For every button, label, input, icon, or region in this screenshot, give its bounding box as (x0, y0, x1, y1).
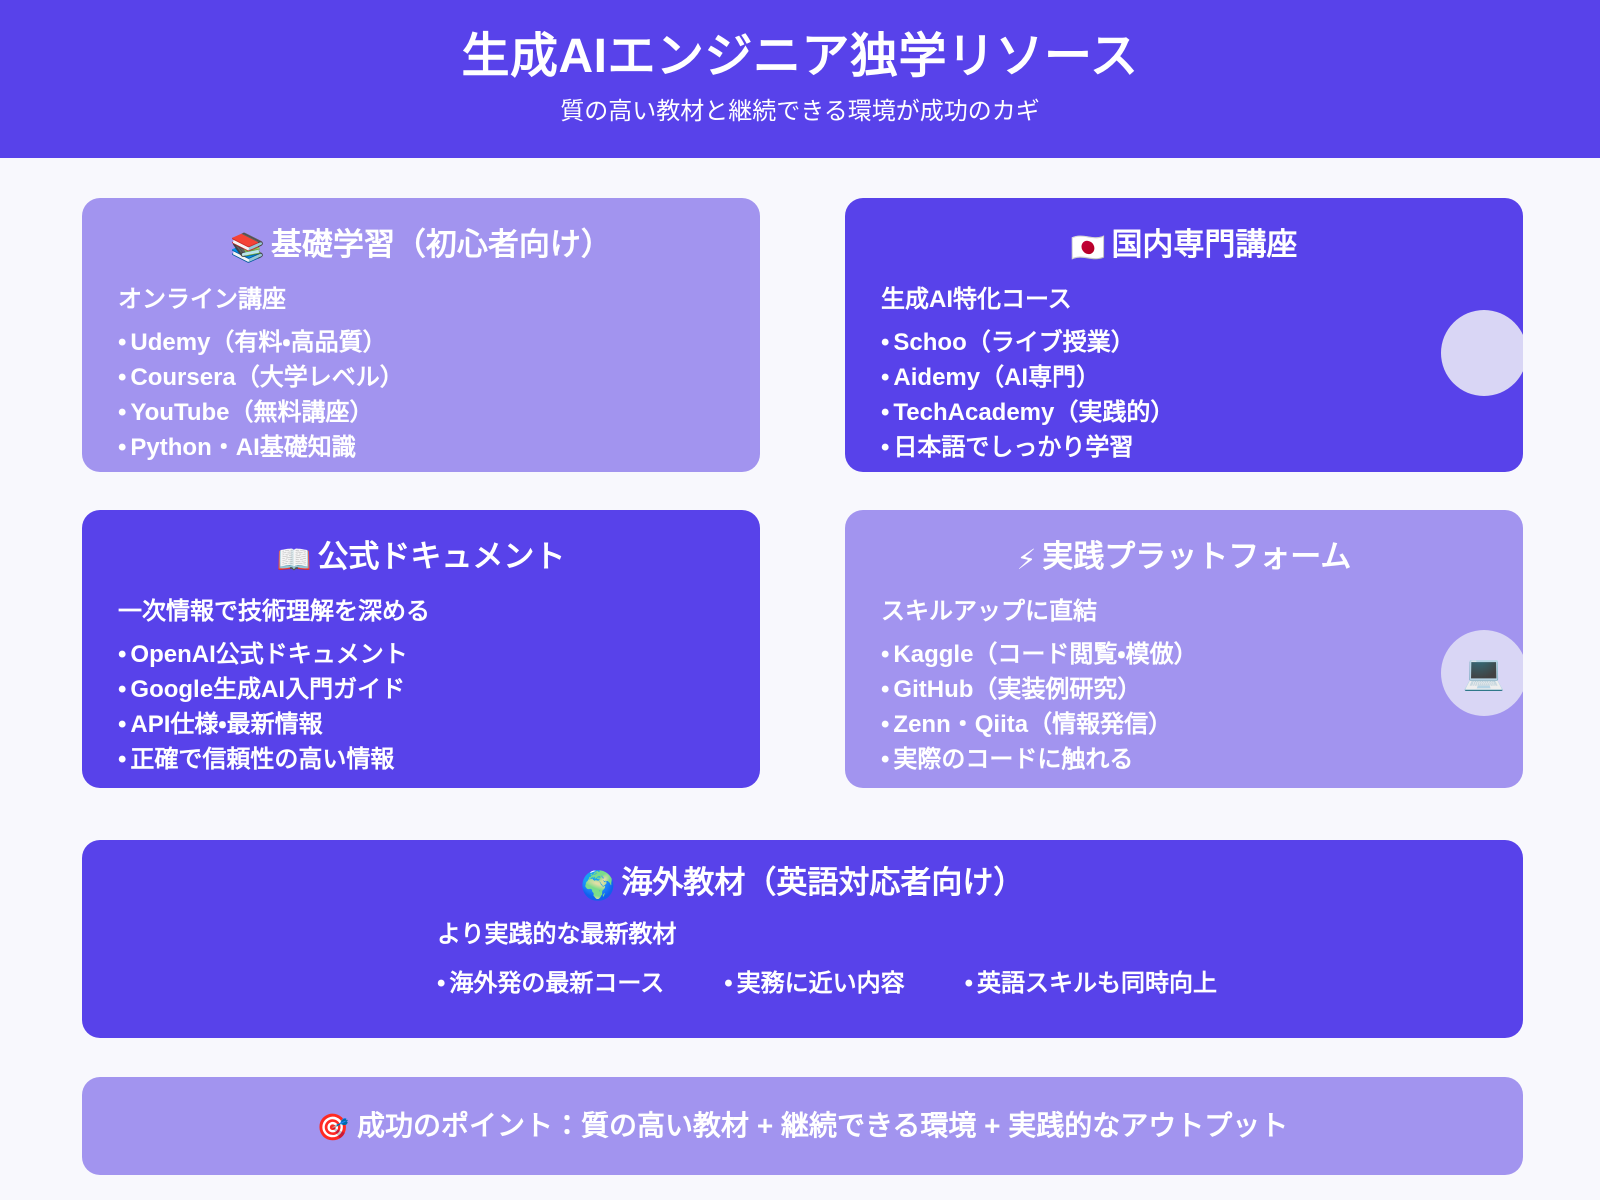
list-item: •YouTube（無料講座） (118, 395, 724, 430)
list-item-label: Aidemy（AI専門） (893, 364, 1100, 391)
list-item: •Google生成AI入門ガイド (118, 672, 724, 707)
card-domestic-courses[interactable]: 🇯🇵国内専門講座 生成AI特化コース •Schoo（ライブ授業） •Aidemy… (845, 198, 1523, 472)
card-title-text: 国内専門講座 (1111, 227, 1297, 262)
list-item-label: 海外発の最新コース (449, 970, 664, 997)
header-banner: 生成AIエンジニア独学リソース 質の高い教材と継続できる環境が成功のカギ (0, 0, 1600, 158)
list-item-label: GitHub（実装例研究） (893, 676, 1141, 703)
card-title-domestic-courses: 🇯🇵国内専門講座 (845, 226, 1523, 265)
list-item: •正確で信頼性の高い情報 (118, 742, 724, 777)
books-icon: 📚 (230, 232, 265, 263)
globe-icon: 🌍 (581, 870, 616, 901)
bullet-icon: • (437, 970, 445, 997)
list-item: •英語スキルも同時向上 (965, 963, 1217, 998)
bullet-icon: • (118, 746, 126, 773)
list-item-label: 実際のコードに触れる (893, 746, 1133, 773)
card-list-practice-platforms: •Kaggle（コード閲覧・模倣） •GitHub（実装例研究） •Zenn・Q… (881, 637, 1487, 777)
card-body-practice-platforms: スキルアップに直結 •Kaggle（コード閲覧・模倣） •GitHub（実装例研… (845, 597, 1523, 777)
list-item-label: YouTube（無料講座） (130, 399, 373, 426)
list-item-label: 日本語でしっかり学習 (893, 434, 1133, 461)
footer-key-point-banner[interactable]: 🎯成功のポイント：質の高い教材 + 継続できる環境 + 実践的なアウトプット (82, 1077, 1523, 1175)
japan-flag-icon: 🇯🇵 (1071, 232, 1106, 263)
bullet-icon: • (881, 711, 889, 738)
card-title-official-docs: 📖公式ドキュメント (82, 538, 760, 577)
card-overseas-materials[interactable]: 🌍海外教材（英語対応者向け） より実践的な最新教材 •海外発の最新コース •実務… (82, 840, 1523, 1038)
list-item-label: 正確で信頼性の高い情報 (130, 746, 394, 773)
card-list-official-docs: •OpenAI公式ドキュメント •Google生成AI入門ガイド •API仕様・… (118, 637, 724, 777)
card-body-overseas-materials: より実践的な最新教材 •海外発の最新コース •実務に近い内容 •英語スキルも同時… (82, 921, 1523, 999)
footer-message: 成功のポイント：質の高い教材 + 継続できる環境 + 実践的なアウトプット (357, 1110, 1288, 1141)
list-item-label: 実務に近い内容 (737, 970, 905, 997)
page-subtitle: 質の高い教材と継続できる環境が成功のカギ (560, 98, 1040, 127)
list-item-label: 英語スキルも同時向上 (977, 970, 1217, 997)
footer-text: 🎯成功のポイント：質の高い教材 + 継続できる環境 + 実践的なアウトプット (317, 1109, 1289, 1143)
card-title-text: 公式ドキュメント (317, 539, 565, 574)
infographic-page: 生成AIエンジニア独学リソース 質の高い教材と継続できる環境が成功のカギ 📚基礎… (0, 0, 1600, 1200)
list-item: •Coursera（大学レベル） (118, 360, 724, 395)
card-lead-basic-learning: オンライン講座 (118, 285, 724, 315)
list-item: •海外発の最新コース (437, 963, 664, 998)
list-item-label: Coursera（大学レベル） (130, 364, 403, 391)
list-item-label: Udemy（有料・高品質） (130, 329, 386, 356)
bullet-icon: • (881, 746, 889, 773)
list-item: •Schoo（ライブ授業） (881, 325, 1487, 360)
list-item-label: Kaggle（コード閲覧・模倣） (893, 641, 1197, 668)
list-item-label: Python・AI基礎知識 (130, 434, 355, 461)
bullet-icon: • (881, 434, 889, 461)
list-item-label: TechAcademy（実践的） (893, 399, 1174, 426)
bullet-icon: • (118, 399, 126, 426)
list-item: •Python・AI基礎知識 (118, 430, 724, 465)
bullet-icon: • (118, 711, 126, 738)
list-item: •Kaggle（コード閲覧・模倣） (881, 637, 1487, 672)
card-lead-official-docs: 一次情報で技術理解を深める (118, 597, 724, 627)
bullet-icon: • (881, 676, 889, 703)
bullet-icon: • (118, 676, 126, 703)
list-item: •日本語でしっかり学習 (881, 430, 1487, 465)
card-title-text: 基礎学習（初心者向け） (271, 227, 612, 262)
card-body-basic-learning: オンライン講座 •Udemy（有料・高品質） •Coursera（大学レベル） … (82, 285, 760, 465)
list-item: •実際のコードに触れる (881, 742, 1487, 777)
card-lead-domestic-courses: 生成AI特化コース (881, 285, 1487, 315)
card-title-basic-learning: 📚基礎学習（初心者向け） (82, 226, 760, 265)
list-item-label: API仕様・最新情報 (130, 711, 322, 738)
card-list-basic-learning: •Udemy（有料・高品質） •Coursera（大学レベル） •YouTube… (118, 325, 724, 465)
bullet-icon: • (118, 641, 126, 668)
card-body-domestic-courses: 生成AI特化コース •Schoo（ライブ授業） •Aidemy（AI専門） •T… (845, 285, 1523, 465)
bullet-icon: • (118, 329, 126, 356)
bullet-icon: • (118, 364, 126, 391)
card-list-domestic-courses: •Schoo（ライブ授業） •Aidemy（AI専門） •TechAcademy… (881, 325, 1487, 465)
card-title-text: 実践プラットフォーム (1042, 539, 1351, 574)
list-item: •Aidemy（AI専門） (881, 360, 1487, 395)
list-item-label: Zenn・Qiita（情報発信） (893, 711, 1172, 738)
card-practice-platforms[interactable]: 💻 ⚡実践プラットフォーム スキルアップに直結 •Kaggle（コード閲覧・模倣… (845, 510, 1523, 788)
bullet-icon: • (724, 970, 732, 997)
bullet-icon: • (118, 434, 126, 461)
bullet-icon: • (881, 364, 889, 391)
list-item: •実務に近い内容 (724, 963, 904, 998)
card-body-official-docs: 一次情報で技術理解を深める •OpenAI公式ドキュメント •Google生成A… (82, 597, 760, 777)
lightning-bolt-icon: ⚡ (1017, 544, 1037, 575)
card-lead-practice-platforms: スキルアップに直結 (881, 597, 1487, 627)
card-official-docs[interactable]: 📖公式ドキュメント 一次情報で技術理解を深める •OpenAI公式ドキュメント … (82, 510, 760, 788)
list-item: •GitHub（実装例研究） (881, 672, 1487, 707)
bullet-icon: • (881, 399, 889, 426)
card-title-practice-platforms: ⚡実践プラットフォーム (845, 538, 1523, 577)
card-title-overseas-materials: 🌍海外教材（英語対応者向け） (82, 864, 1523, 903)
list-item: •TechAcademy（実践的） (881, 395, 1487, 430)
bullet-icon: • (881, 329, 889, 356)
list-item: •Zenn・Qiita（情報発信） (881, 707, 1487, 742)
list-item-label: Google生成AI入門ガイド (130, 676, 405, 703)
list-item-label: OpenAI公式ドキュメント (130, 641, 407, 668)
list-item: •OpenAI公式ドキュメント (118, 637, 724, 672)
page-title: 生成AIエンジニア独学リソース (461, 31, 1138, 84)
card-list-overseas-materials: •海外発の最新コース •実務に近い内容 •英語スキルも同時向上 (437, 963, 1523, 998)
target-icon: 🎯 (317, 1112, 349, 1142)
bullet-icon: • (881, 641, 889, 668)
card-title-text: 海外教材（英語対応者向け） (621, 865, 1024, 900)
card-basic-learning[interactable]: 📚基礎学習（初心者向け） オンライン講座 •Udemy（有料・高品質） •Cou… (82, 198, 760, 472)
bullet-icon: • (965, 970, 973, 997)
card-lead-overseas-materials: より実践的な最新教材 (437, 921, 1523, 950)
list-item: •API仕様・最新情報 (118, 707, 724, 742)
list-item-label: Schoo（ライブ授業） (893, 329, 1134, 356)
open-book-icon: 📖 (277, 544, 312, 575)
list-item: •Udemy（有料・高品質） (118, 325, 724, 360)
